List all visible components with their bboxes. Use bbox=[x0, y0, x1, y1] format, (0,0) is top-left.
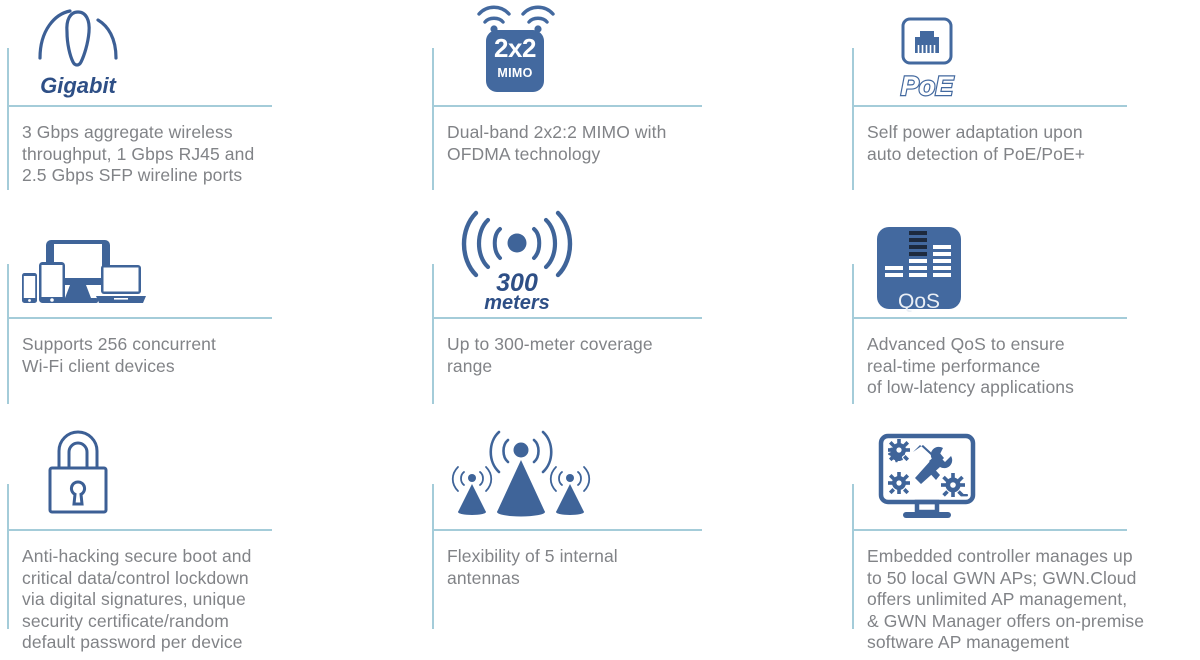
icon-zone: Gigabit bbox=[0, 0, 425, 105]
icon-zone: 2x2 MIMO bbox=[425, 0, 845, 105]
divider-horizontal bbox=[852, 105, 1127, 107]
feature-cell-controller: Embedded controller manages up to 50 loc… bbox=[845, 424, 1200, 660]
mimo-badge-subtitle: MIMO bbox=[486, 66, 544, 80]
feature-cell-security: Anti-hacking secure boot and critical da… bbox=[0, 424, 425, 660]
divider-vertical bbox=[852, 264, 854, 404]
feature-text: Anti-hacking secure boot and critical da… bbox=[22, 546, 322, 654]
divider-horizontal bbox=[7, 105, 272, 107]
feature-cell-antennas: Flexibility of 5 internal antennas bbox=[425, 424, 845, 660]
divider-horizontal bbox=[7, 529, 272, 531]
padlock-icon bbox=[28, 424, 128, 524]
icon-zone bbox=[845, 424, 1200, 529]
divider-vertical bbox=[852, 484, 854, 629]
feature-cell-coverage: 300 meters Up to 300-meter coverage rang… bbox=[425, 212, 845, 424]
feature-text: Embedded controller manages up to 50 loc… bbox=[867, 546, 1157, 654]
feature-text: Self power adaptation upon auto detectio… bbox=[867, 122, 1157, 165]
feature-cell-client-devices: Supports 256 concurrent Wi-Fi client dev… bbox=[0, 212, 425, 424]
divider-horizontal bbox=[852, 529, 1127, 531]
feature-text: 3 Gbps aggregate wireless throughput, 1 … bbox=[22, 122, 322, 187]
feature-grid: Gigabit 3 Gbps aggregate wireless throug… bbox=[0, 0, 1200, 660]
mimo-badge: 2x2 MIMO bbox=[486, 30, 544, 92]
feature-text: Up to 300-meter coverage range bbox=[447, 334, 737, 377]
client-devices-icon bbox=[18, 232, 158, 312]
divider-vertical bbox=[7, 264, 9, 404]
mimo-badge-title: 2x2 bbox=[486, 30, 544, 66]
poe-icon: PoE bbox=[877, 5, 977, 105]
divider-vertical bbox=[432, 484, 434, 629]
divider-horizontal bbox=[432, 529, 702, 531]
equalizer-icon bbox=[877, 227, 961, 287]
feature-cell-gigabit: Gigabit 3 Gbps aggregate wireless throug… bbox=[0, 0, 425, 212]
divider-vertical bbox=[7, 48, 9, 190]
embedded-controller-icon bbox=[873, 428, 981, 524]
feature-text: Supports 256 concurrent Wi-Fi client dev… bbox=[22, 334, 322, 377]
feature-cell-qos: QoS Advanced QoS to ensure real-time per… bbox=[845, 212, 1200, 424]
feature-cell-poe: PoE Self power adaptation upon auto dete… bbox=[845, 0, 1200, 212]
gigabit-icon-label: Gigabit bbox=[40, 73, 117, 98]
feature-cell-mimo: 2x2 MIMO Dual-band 2x2:2 MIMO with OFDMA… bbox=[425, 0, 845, 212]
divider-horizontal bbox=[432, 105, 702, 107]
divider-vertical bbox=[432, 48, 434, 190]
feature-text: Flexibility of 5 internal antennas bbox=[447, 546, 737, 589]
divider-horizontal bbox=[432, 317, 702, 319]
feature-text: Advanced QoS to ensure real-time perform… bbox=[867, 334, 1157, 399]
icon-zone bbox=[0, 424, 425, 529]
icon-zone: QoS bbox=[845, 212, 1200, 317]
antennas-icon bbox=[447, 424, 595, 524]
divider-vertical bbox=[432, 264, 434, 404]
icon-zone: 300 meters bbox=[425, 212, 845, 317]
divider-vertical bbox=[852, 48, 854, 190]
feature-text: Dual-band 2x2:2 MIMO with OFDMA technolo… bbox=[447, 122, 737, 165]
icon-zone bbox=[425, 424, 845, 529]
qos-icon-label: QoS bbox=[877, 291, 961, 313]
icon-zone bbox=[0, 212, 425, 317]
icon-zone: PoE bbox=[845, 0, 1200, 105]
300-meters-coverage-icon: 300 meters bbox=[457, 209, 577, 312]
coverage-icon-sublabel: meters bbox=[484, 292, 550, 312]
gigabit-icon: Gigabit bbox=[18, 0, 138, 100]
divider-horizontal bbox=[7, 317, 272, 319]
divider-horizontal bbox=[852, 317, 1127, 319]
poe-icon-label: PoE bbox=[901, 71, 955, 101]
divider-vertical bbox=[7, 484, 9, 629]
